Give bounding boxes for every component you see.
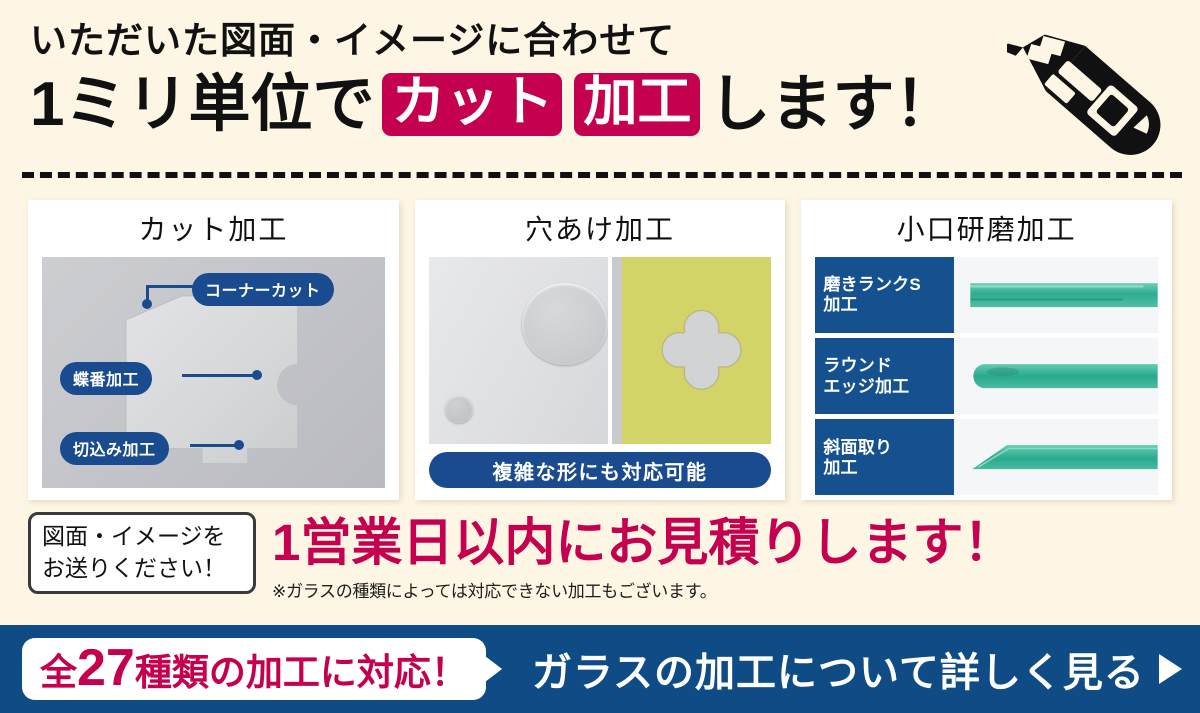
details-link[interactable]: ガラスの加工について詳しく見る bbox=[532, 640, 1182, 698]
badge-number: 27 bbox=[77, 645, 135, 692]
card-cut-processing: カット加工 コーナーカット bbox=[28, 200, 399, 500]
polish-label: 斜面取り 加工 bbox=[815, 419, 954, 495]
polish-photo-rank-s bbox=[954, 257, 1158, 333]
headline-main: 1ミリ単位で カット 加工 します！ bbox=[30, 72, 1030, 137]
feature-cards: カット加工 コーナーカット bbox=[28, 200, 1172, 500]
headline-block: いただいた図面・イメージに合わせて 1ミリ単位で カット 加工 します！ bbox=[30, 18, 1030, 137]
quote-headline: 1営業日以内にお見積りします！ bbox=[272, 514, 1014, 571]
polish-row: ラウンド エッジ加工 bbox=[815, 338, 1158, 414]
annotation-hinge: 蝶番加工 bbox=[60, 362, 152, 395]
hole-photo-quatrefoil bbox=[612, 257, 772, 444]
cutter-knife-icon bbox=[1007, 4, 1192, 179]
dot-hinge bbox=[252, 370, 262, 380]
badge-prefix: 全 bbox=[40, 642, 77, 696]
quatrefoil-hole bbox=[660, 303, 743, 397]
annotation-notch: 切込み加工 bbox=[60, 432, 169, 465]
polish-row: 斜面取り 加工 bbox=[815, 419, 1158, 495]
bottom-cta-bar[interactable]: 全 27 種類の加工に対応！ ガラスの加工について詳しく見る bbox=[0, 625, 1200, 713]
dot-corner-cut bbox=[142, 299, 152, 309]
leader-hinge bbox=[182, 374, 258, 377]
quote-strip: 図面・イメージを お送りください！ 1営業日以内にお見積りします！ ※ガラスの種… bbox=[28, 512, 1178, 614]
quote-text-block: 1営業日以内にお見積りします！ ※ガラスの種類によっては対応できない加工もござい… bbox=[272, 512, 1014, 602]
polish-label: ラウンド エッジ加工 bbox=[815, 338, 954, 414]
polish-label-line2: エッジ加工 bbox=[823, 377, 909, 396]
annotation-corner-cut: コーナーカット bbox=[192, 273, 334, 306]
hole-photos bbox=[429, 257, 772, 444]
details-link-label: ガラスの加工について詳しく見る bbox=[532, 640, 1145, 698]
headline-prefix: 1ミリ単位で bbox=[30, 72, 374, 137]
send-line-1: 図面・イメージを bbox=[42, 521, 253, 553]
processing-count-badge: 全 27 種類の加工に対応！ bbox=[22, 638, 486, 700]
polish-label-line1: ラウンド bbox=[823, 356, 892, 375]
large-hole bbox=[522, 283, 608, 365]
cut-diagram: コーナーカット 蝶番加工 切込み加工 bbox=[42, 257, 385, 488]
polish-label-line1: 磨きランクS bbox=[823, 275, 921, 294]
badge-suffix: 種類の加工に対応！ bbox=[135, 642, 468, 696]
polish-photo-bevel bbox=[954, 419, 1158, 495]
leader-notch bbox=[190, 444, 240, 447]
headline-pill-process: 加工 bbox=[574, 73, 700, 136]
polish-label-line2: 加工 bbox=[823, 458, 857, 477]
polish-row: 磨きランクS 加工 bbox=[815, 257, 1158, 333]
polish-rows: 磨きランクS 加工 bbox=[815, 257, 1158, 496]
small-hole bbox=[445, 395, 474, 423]
dot-notch bbox=[234, 440, 244, 450]
card-title: 小口研磨加工 bbox=[815, 210, 1158, 251]
headline-suffix: します！ bbox=[708, 72, 956, 137]
send-drawing-box: 図面・イメージを お送りください！ bbox=[28, 512, 256, 594]
complex-shape-badge: 複雑な形にも対応可能 bbox=[429, 452, 772, 488]
polish-photo-round-edge bbox=[954, 338, 1158, 414]
polish-label-line2: 加工 bbox=[823, 295, 857, 314]
headline-pill-cut: カット bbox=[382, 73, 562, 136]
hole-photo-round bbox=[429, 257, 608, 444]
triangle-right-icon bbox=[1159, 654, 1182, 684]
polish-label: 磨きランクS 加工 bbox=[815, 257, 954, 333]
polish-label-line1: 斜面取り bbox=[823, 438, 892, 457]
card-hole-processing: 穴あけ加工 bbox=[415, 200, 786, 500]
dashed-divider bbox=[22, 172, 1182, 178]
send-line-2: お送りください！ bbox=[42, 553, 253, 585]
badge-text: 全 27 種類の加工に対応！ bbox=[40, 642, 468, 696]
headline-subtitle: いただいた図面・イメージに合わせて bbox=[30, 18, 1030, 64]
quote-note: ※ガラスの種類によっては対応できない加工もございます。 bbox=[272, 577, 1014, 602]
card-title: 穴あけ加工 bbox=[429, 210, 772, 251]
card-edge-polishing: 小口研磨加工 磨きランクS 加工 bbox=[801, 200, 1172, 500]
card-title: カット加工 bbox=[42, 210, 385, 251]
glass-processing-banner: いただいた図面・イメージに合わせて 1ミリ単位で カット 加工 します！ bbox=[0, 0, 1200, 713]
